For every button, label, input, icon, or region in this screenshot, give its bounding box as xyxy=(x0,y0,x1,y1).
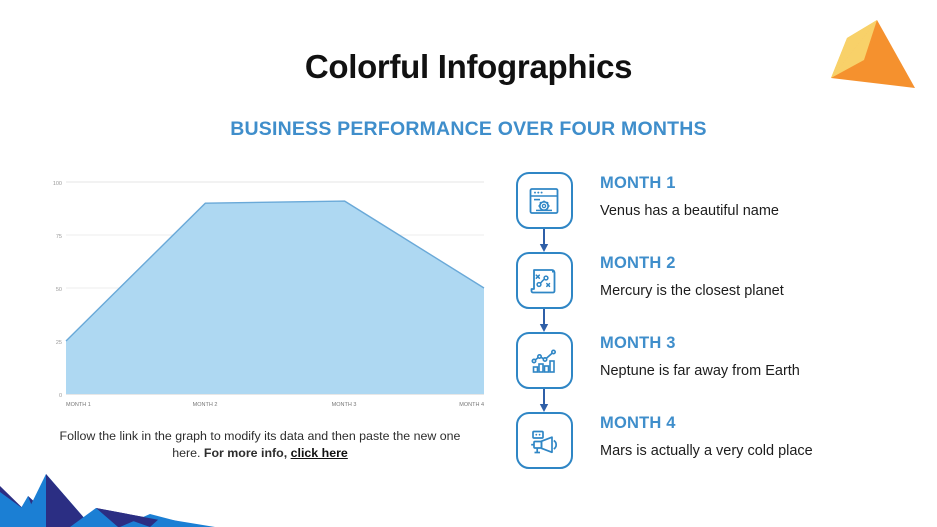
step-icon-box-month-2[interactable] xyxy=(516,252,573,309)
more-info-link[interactable]: click here xyxy=(291,446,348,460)
svg-text:75: 75 xyxy=(56,234,62,240)
page-title: Colorful Infographics xyxy=(0,48,937,86)
chart-y-tick-labels: 100 75 50 25 0 xyxy=(53,181,62,399)
step-description: Venus has a beautiful name xyxy=(600,202,779,220)
megaphone-icon xyxy=(527,424,561,458)
step-item[interactable]: MONTH 3 Neptune is far away from Earth xyxy=(508,332,920,412)
browser-analytics-icon xyxy=(527,184,561,218)
step-connector-arrow xyxy=(543,309,545,332)
arrow-down-icon xyxy=(539,389,549,412)
step-icon-box-month-4[interactable] xyxy=(516,412,573,469)
svg-text:50: 50 xyxy=(56,287,62,293)
svg-text:MONTH 4: MONTH 4 xyxy=(459,402,484,408)
bar-chart-growth-icon xyxy=(527,344,561,378)
step-title: MONTH 1 xyxy=(600,174,779,193)
step-item[interactable]: MONTH 2 Mercury is the closest planet xyxy=(508,252,920,332)
chart-x-tick-labels: MONTH 1 MONTH 2 MONTH 3 MONTH 4 xyxy=(66,402,484,408)
step-description: Mars is actually a very cold place xyxy=(600,442,813,460)
step-text: MONTH 4 Mars is actually a very cold pla… xyxy=(580,412,813,460)
slide: Colorful Infographics BUSINESS PERFORMAN… xyxy=(0,0,937,527)
step-title: MONTH 4 xyxy=(600,414,813,433)
step-icon-column xyxy=(508,332,580,389)
arrow-down-icon xyxy=(539,309,549,332)
step-item[interactable]: MONTH 1 Venus has a beautiful name xyxy=(508,172,920,252)
caption-line-2-bold: For more info, xyxy=(204,446,291,460)
step-icon-column xyxy=(508,412,580,469)
step-icon-column xyxy=(508,252,580,309)
page-subtitle: BUSINESS PERFORMANCE OVER FOUR MONTHS xyxy=(0,118,937,141)
step-icon-column xyxy=(508,172,580,229)
chart-svg: 100 75 50 25 0 MONTH 1 MONTH 2 MONTH 3 M… xyxy=(44,172,490,410)
svg-text:MONTH 1: MONTH 1 xyxy=(66,402,91,408)
svg-text:25: 25 xyxy=(56,340,62,346)
step-item[interactable]: MONTH 4 Mars is actually a very cold pla… xyxy=(508,412,920,492)
step-description: Mercury is the closest planet xyxy=(600,282,784,300)
step-connector-arrow xyxy=(543,229,545,252)
blue-triangles-icon xyxy=(0,452,250,527)
decoration-bottom-left xyxy=(0,452,250,527)
step-description: Neptune is far away from Earth xyxy=(600,362,800,380)
caption-line-1: Follow the link in the graph to modify i… xyxy=(60,429,411,443)
step-title: MONTH 3 xyxy=(600,334,800,353)
strategy-plan-icon xyxy=(527,264,561,298)
area-chart[interactable]: 100 75 50 25 0 MONTH 1 MONTH 2 MONTH 3 M… xyxy=(44,172,490,410)
svg-text:0: 0 xyxy=(59,393,62,399)
step-text: MONTH 2 Mercury is the closest planet xyxy=(580,252,784,300)
chart-area-fill xyxy=(66,201,484,394)
svg-text:MONTH 3: MONTH 3 xyxy=(332,402,357,408)
step-text: MONTH 1 Venus has a beautiful name xyxy=(580,172,779,220)
step-connector-arrow xyxy=(543,389,545,412)
step-title: MONTH 2 xyxy=(600,254,784,273)
step-icon-box-month-1[interactable] xyxy=(516,172,573,229)
step-icon-box-month-3[interactable] xyxy=(516,332,573,389)
arrow-down-icon xyxy=(539,229,549,252)
svg-text:MONTH 2: MONTH 2 xyxy=(193,402,218,408)
steps-list: MONTH 1 Venus has a beautiful name xyxy=(508,172,920,492)
svg-text:100: 100 xyxy=(53,181,62,187)
chart-caption: Follow the link in the graph to modify i… xyxy=(50,428,470,462)
step-text: MONTH 3 Neptune is far away from Earth xyxy=(580,332,800,380)
